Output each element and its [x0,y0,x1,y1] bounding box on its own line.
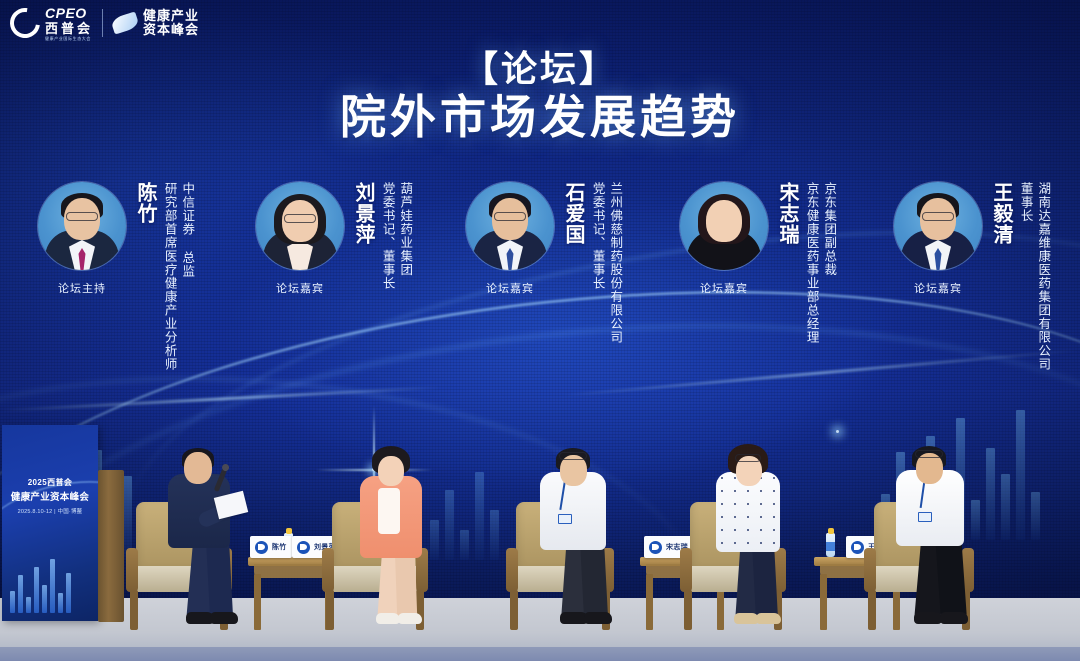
seat-1 [316,408,476,630]
leaf-icon [110,11,140,34]
glasses-icon [922,212,954,221]
speaker-org-line1: 京东集团副总裁 [821,182,837,344]
glasses-icon [735,454,761,462]
speaker-title: 兰州佛慈制药股份有限公司 党委书记、董事长 [587,182,622,344]
speaker-name: 刘景萍 [352,182,373,245]
speaker-org-line2: 研究部首席医疗健康产业分析师 [161,182,177,371]
person-speaker-3 [698,424,810,620]
speaker-org-line1: 兰州佛慈制药股份有限公司 [607,182,623,344]
speaker-org-line1: 湖南达嘉维康医药集团有限公司 [1035,182,1051,371]
glasses-icon [494,212,526,221]
cpeo-logo-en: CPEO [45,6,93,20]
speaker-role: 论坛嘉宾 [700,280,748,296]
speaker-card-4: 论坛嘉宾 王毅清 湖南达嘉维康医药集团有限公司 董事长 [890,182,1050,371]
glasses-icon [915,450,943,458]
speaker-card-3: 论坛嘉宾 宋志瑞 京东集团副总裁 京东健康医药事业部总经理 [676,182,836,344]
speaker-org-line2: 京东健康医药事业部总经理 [803,182,819,344]
forum-title-line2: 院外市场发展趋势 [0,91,1080,144]
glasses-icon [559,452,587,460]
speaker-role: 论坛嘉宾 [486,280,534,296]
stage-scene: CPEO 西普会 健康产业国际生态大会 健康产业 资本峰会 【论坛】 院外市场发… [0,0,1080,661]
person-speaker-4 [878,420,998,620]
cpeo-logo-cn: 西普会 [45,22,93,35]
placard-logo-icon [649,541,662,554]
speaker-title: 葫芦娃药业集团 党委书记、董事长 [377,182,412,290]
seat-4 [856,408,1026,630]
person-speaker-2 [522,422,640,620]
logo-divider [102,9,103,37]
forum-title-block: 【论坛】 院外市场发展趋势 [0,48,1080,144]
cpeo-circle-icon [4,2,46,44]
speaker-card-0: 论坛主持 陈竹 中信证券 总监 研究部首席医疗健康产业分析师 [34,182,194,371]
placard-logo-icon [255,541,268,554]
speaker-name: 陈竹 [134,182,155,224]
avatar [894,182,982,270]
speaker-org-line2: 党委书记、董事长 [379,182,395,290]
speaker-org-line1: 葫芦娃药业集团 [397,182,413,290]
seat-3 [672,408,836,630]
avatar [256,182,344,270]
placard-name: 陈竹 [272,542,287,552]
badge [918,512,932,522]
panel-seating: 陈竹 刘景萍 [0,400,1080,630]
health-logo-line1: 健康产业 [143,9,199,23]
speaker-strip: 论坛主持 陈竹 中信证券 总监 研究部首席医疗健康产业分析师 论坛嘉宾 刘景萍 [0,182,1080,432]
speaker-org-line2: 董事长 [1017,182,1033,371]
speaker-name: 王毅清 [990,182,1011,245]
glasses-icon [66,212,98,221]
speaker-card-2: 论坛嘉宾 石爱国 兰州佛慈制药股份有限公司 党委书记、董事长 [462,182,622,344]
badge [558,514,572,524]
speaker-role: 论坛嘉宾 [914,280,962,296]
avatar [38,182,126,270]
avatar [466,182,554,270]
speaker-name: 石爱国 [562,182,583,245]
name-placard: 陈竹 [250,536,292,558]
speaker-org-line2: 党委书记、董事长 [589,182,605,344]
health-logo-line2: 资本峰会 [143,23,199,37]
speaker-card-1: 论坛嘉宾 刘景萍 葫芦娃药业集团 党委书记、董事长 [252,182,412,296]
speaker-role: 论坛嘉宾 [276,280,324,296]
water-bottle [826,533,835,557]
forum-title-line1: 【论坛】 [0,48,1080,89]
header-logo-bar: CPEO 西普会 健康产业国际生态大会 健康产业 资本峰会 [0,0,199,46]
speaker-org-line1: 中信证券 总监 [179,182,195,371]
speaker-title: 湖南达嘉维康医药集团有限公司 董事长 [1015,182,1050,371]
avatar [680,182,768,270]
person-speaker-1 [340,424,450,620]
speaker-name: 宋志瑞 [776,182,797,245]
speaker-title: 中信证券 总监 研究部首席医疗健康产业分析师 [159,182,194,371]
logo-health-capital: 健康产业 资本峰会 [112,9,199,38]
cpeo-logo-sub: 健康产业国际生态大会 [45,37,93,41]
placard-logo-icon [297,541,310,554]
stage-floor-edge [0,647,1080,661]
speaker-title: 京东集团副总裁 京东健康医药事业部总经理 [801,182,836,344]
glasses-icon [284,214,316,223]
speaker-role: 论坛主持 [58,280,106,296]
logo-cpeo: CPEO 西普会 健康产业国际生态大会 [0,6,93,41]
